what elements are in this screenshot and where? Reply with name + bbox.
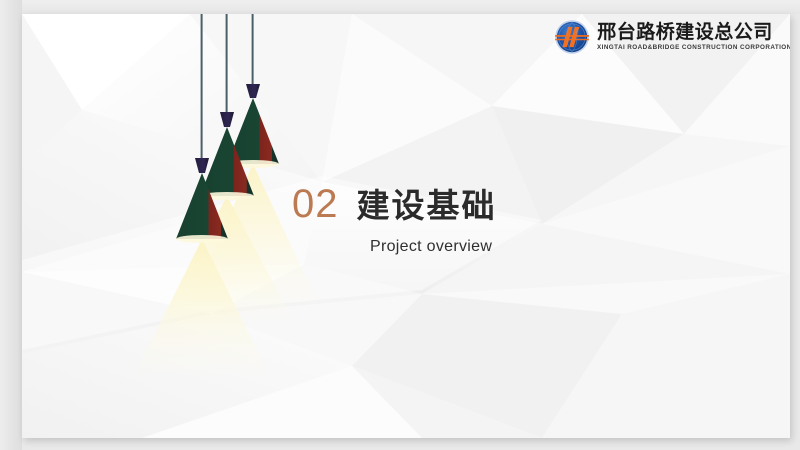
canvas-top-margin bbox=[0, 0, 800, 14]
slide-page: 02 建设基础 Project overview bbox=[22, 14, 790, 438]
section-title-en: Project overview bbox=[370, 238, 622, 256]
slide-canvas: 02 建设基础 Project overview bbox=[0, 0, 800, 450]
company-logo: 邢台路桥建设总公司 XINGTAI ROAD&BRIDGE CONSTRUCTI… bbox=[554, 19, 788, 55]
xingtai-road-bridge-logo-mark bbox=[554, 19, 590, 55]
company-name-cn: 邢台路桥建设总公司 bbox=[597, 23, 788, 42]
canvas-left-margin bbox=[0, 0, 22, 450]
section-title-row: 02 建设基础 bbox=[292, 184, 622, 224]
company-name-en: XINGTAI ROAD&BRIDGE CONSTRUCTION CORPORA… bbox=[597, 45, 790, 51]
logo-text-group: 邢台路桥建设总公司 XINGTAI ROAD&BRIDGE CONSTRUCTI… bbox=[597, 23, 788, 51]
section-number: 02 bbox=[292, 184, 339, 224]
section-title-cn: 建设基础 bbox=[357, 189, 497, 222]
section-title-block: 02 建设基础 Project overview bbox=[292, 184, 622, 256]
